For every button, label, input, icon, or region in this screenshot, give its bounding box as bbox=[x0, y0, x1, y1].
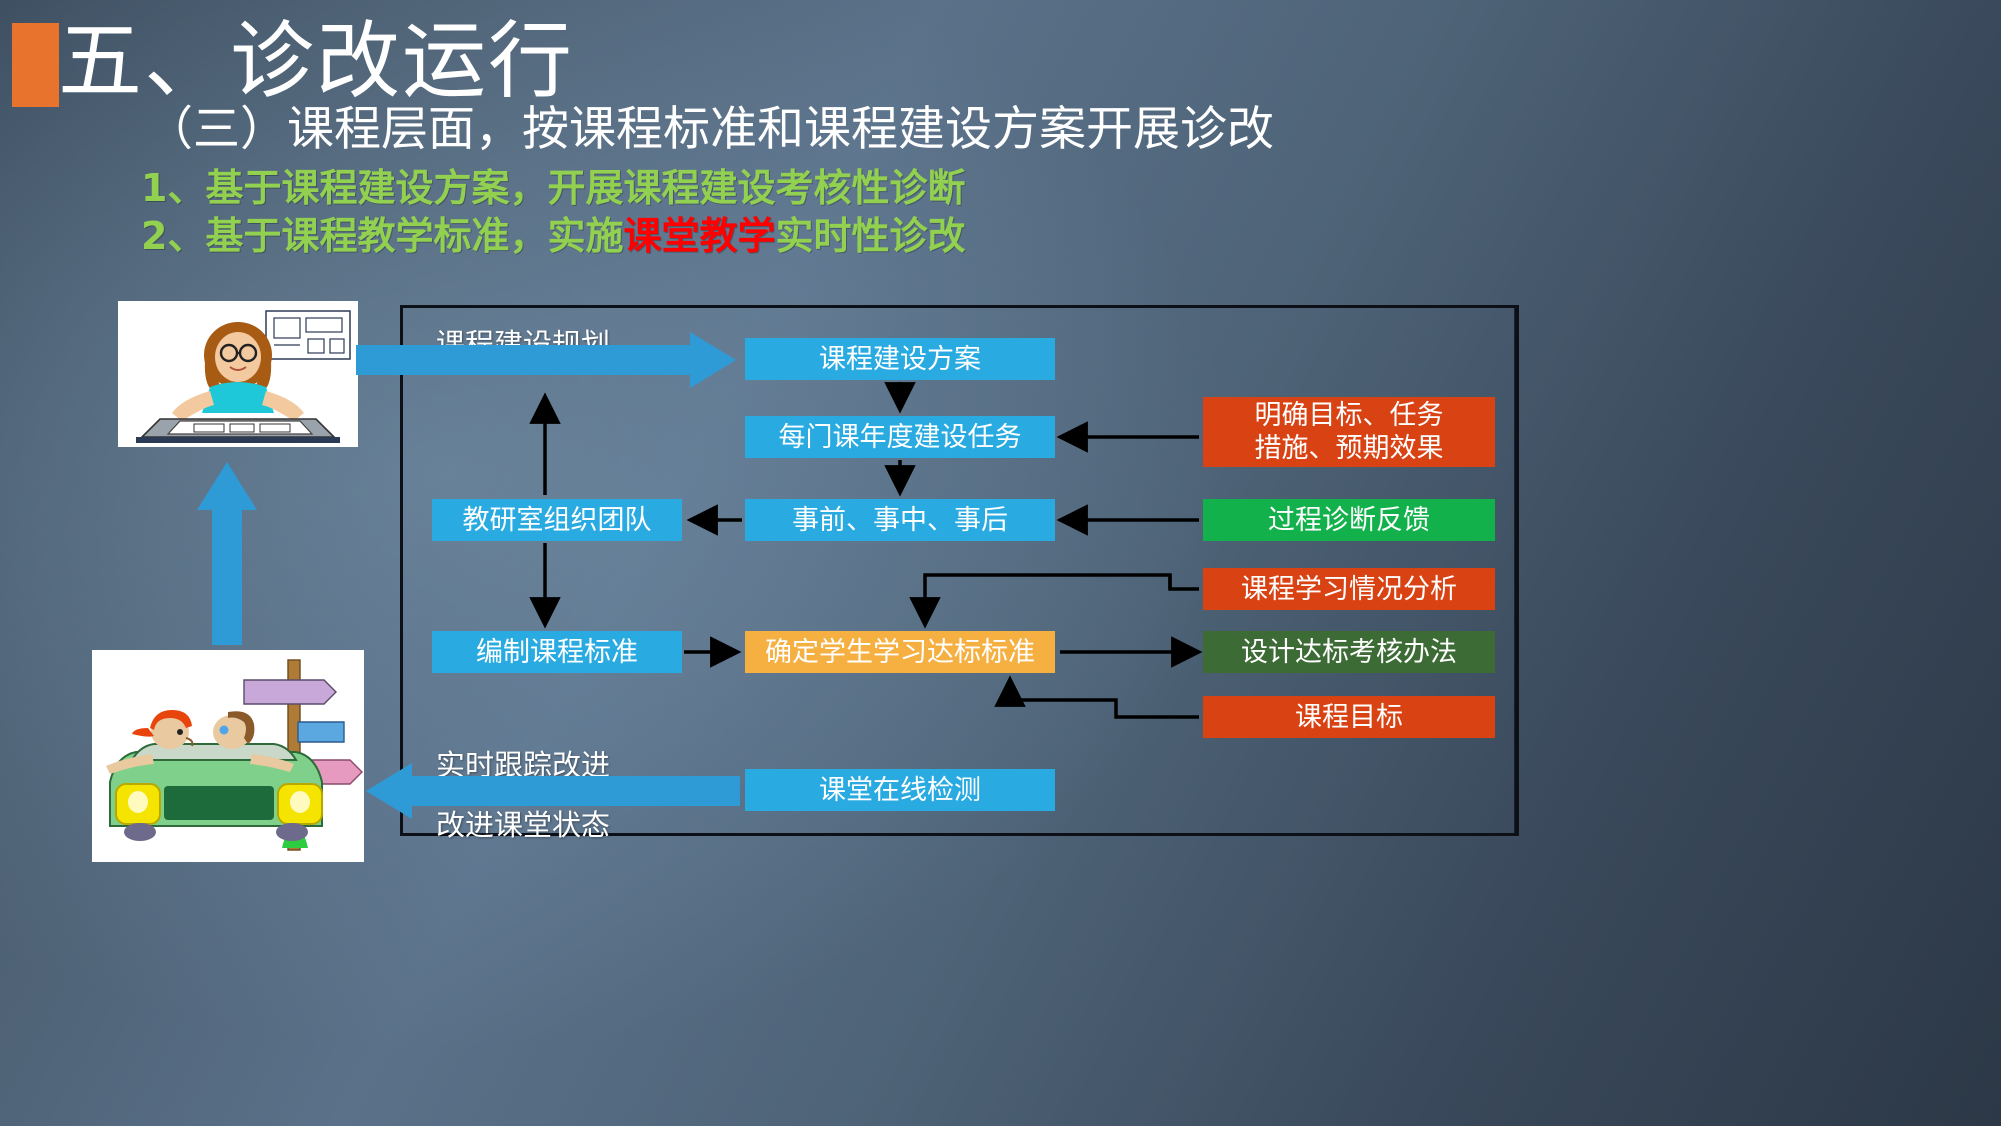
box-goals-line-2: 措施、预期效果 bbox=[1255, 432, 1444, 465]
box-process-diagnosis-feedback[interactable]: 过程诊断反馈 bbox=[1203, 499, 1495, 541]
box-teaching-office-team[interactable]: 教研室组织团队 bbox=[432, 499, 682, 541]
box-annual-construction-task[interactable]: 每门课年度建设任务 bbox=[745, 416, 1055, 458]
box-course-goal[interactable]: 课程目标 bbox=[1203, 696, 1495, 738]
box-compile-course-standard[interactable]: 编制课程标准 bbox=[432, 631, 682, 673]
slide-subtitle: （三）课程层面，按课程标准和课程建设方案开展诊改 bbox=[146, 102, 1274, 158]
box-design-assessment-method[interactable]: 设计达标考核办法 bbox=[1203, 631, 1495, 673]
accent-bar bbox=[12, 23, 59, 107]
bullet-2-highlight: 课堂教学 bbox=[623, 214, 775, 258]
bullet-2-number: 2、 bbox=[141, 214, 205, 258]
label-improve-classroom-state: 改进课堂状态 bbox=[436, 808, 610, 842]
bullet-item-1: 1、基于课程建设方案，开展课程建设考核性诊断 bbox=[141, 166, 965, 210]
diagram-frame-right-edge bbox=[1516, 305, 1519, 836]
page-title: 五、诊改运行 bbox=[58, 16, 574, 106]
label-realtime-tracking: 实时跟踪改进 bbox=[436, 748, 610, 782]
bullet-item-2: 2、基于课程教学标准，实施课堂教学实时性诊改 bbox=[141, 214, 966, 258]
box-student-learning-standard[interactable]: 确定学生学习达标标准 bbox=[745, 631, 1055, 673]
bullet-1-number: 1、 bbox=[141, 166, 205, 210]
teacher-drafting-clipart bbox=[118, 301, 358, 447]
box-course-construction-scheme[interactable]: 课程建设方案 bbox=[745, 338, 1055, 380]
slide-canvas: 五、诊改运行 （三）课程层面，按课程标准和课程建设方案开展诊改 1、基于课程建设… bbox=[0, 0, 2001, 1126]
big-arrow-up bbox=[197, 462, 257, 645]
bullet-2-text-b: 实时性诊改 bbox=[775, 214, 965, 258]
box-classroom-online-check[interactable]: 课堂在线检测 bbox=[745, 769, 1055, 811]
box-before-during-after[interactable]: 事前、事中、事后 bbox=[745, 499, 1055, 541]
bullet-1-text: 基于课程建设方案，开展课程建设考核性诊断 bbox=[205, 166, 965, 210]
box-clear-goals-tasks[interactable]: 明确目标、任务 措施、预期效果 bbox=[1203, 397, 1495, 467]
label-course-construction-plan: 课程建设规划 bbox=[436, 327, 610, 361]
bullet-2-text-a: 基于课程教学标准，实施 bbox=[205, 214, 623, 258]
box-goals-line-1: 明确目标、任务 bbox=[1255, 399, 1444, 432]
people-in-car-clipart bbox=[92, 650, 364, 862]
box-course-learning-analysis[interactable]: 课程学习情况分析 bbox=[1203, 568, 1495, 610]
